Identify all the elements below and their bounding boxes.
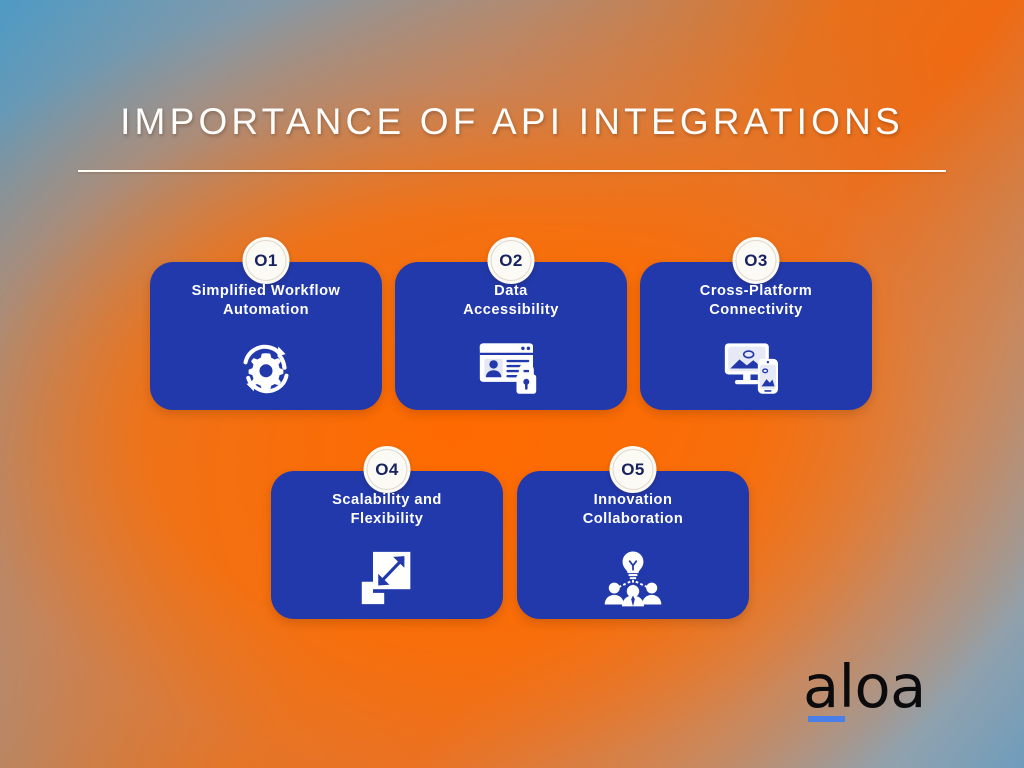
card-data-accessibility[interactable]: O2 Data Accessibility xyxy=(395,262,627,410)
card-innovation-collaboration[interactable]: O5 Innovation Collaboration xyxy=(517,471,749,619)
card-title-line1: Innovation xyxy=(594,492,673,508)
card-title: Scalability and Flexibility xyxy=(279,491,495,528)
card-title-line2: Automation xyxy=(223,302,309,318)
card-badge: O2 xyxy=(488,237,535,284)
gear-sync-icon xyxy=(150,338,382,400)
resize-arrows-icon xyxy=(271,547,503,609)
card-title-line2: Collaboration xyxy=(583,511,684,527)
card-title-line1: Cross-Platform xyxy=(700,283,812,299)
card-title-line2: Flexibility xyxy=(351,511,424,527)
page-title: IMPORTANCE OF API INTEGRATIONS xyxy=(78,102,946,143)
aloa-logo: aloa xyxy=(803,660,935,713)
card-title: Innovation Collaboration xyxy=(525,491,741,528)
card-number: O3 xyxy=(744,251,767,271)
title-divider xyxy=(78,170,946,172)
card-badge: O4 xyxy=(364,446,411,493)
card-title-line2: Accessibility xyxy=(463,302,559,318)
card-title-line1: Data xyxy=(494,283,528,299)
slide-canvas: IMPORTANCE OF API INTEGRATIONS O1 Simpli… xyxy=(0,0,1024,768)
profile-window-lock-icon xyxy=(395,338,627,400)
card-number: O1 xyxy=(254,251,277,271)
card-badge: O5 xyxy=(610,446,657,493)
logo-wordmark: aloa xyxy=(803,660,935,713)
card-number: O4 xyxy=(375,460,398,480)
card-number: O2 xyxy=(499,251,522,271)
card-title-line2: Connectivity xyxy=(709,302,803,318)
card-cross-platform-connectivity[interactable]: O3 Cross-Platform Connectivity xyxy=(640,262,872,410)
card-title-line1: Scalability and xyxy=(332,492,442,508)
card-simplified-workflow-automation[interactable]: O1 Simplified Workflow Automation xyxy=(150,262,382,410)
logo-underline-accent xyxy=(808,716,845,722)
lightbulb-team-icon xyxy=(517,547,749,609)
title-block: IMPORTANCE OF API INTEGRATIONS xyxy=(78,102,946,172)
card-badge: O3 xyxy=(733,237,780,284)
monitor-phone-icon xyxy=(640,338,872,400)
card-number: O5 xyxy=(621,460,644,480)
card-title: Data Accessibility xyxy=(403,282,619,319)
card-title: Cross-Platform Connectivity xyxy=(648,282,864,319)
card-title-line1: Simplified Workflow xyxy=(192,283,341,299)
card-scalability-and-flexibility[interactable]: O4 Scalability and Flexibility xyxy=(271,471,503,619)
card-title: Simplified Workflow Automation xyxy=(158,282,374,319)
card-badge: O1 xyxy=(243,237,290,284)
